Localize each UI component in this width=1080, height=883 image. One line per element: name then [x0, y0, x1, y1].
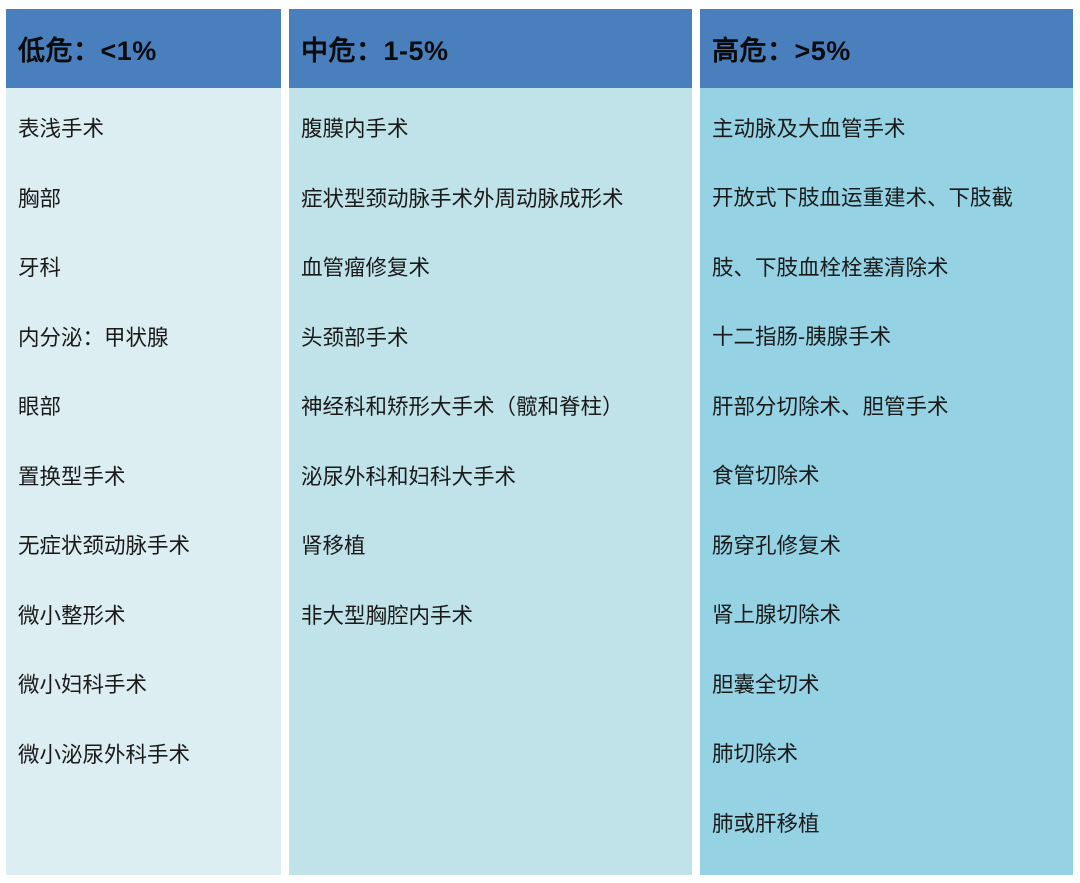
list-item: 胆囊全切术	[712, 670, 1067, 740]
surgical-risk-table: 低危：<1% 表浅手术 胸部 牙科 内分泌：甲状腺 眼部 置换型手术 无症状颈动…	[6, 9, 1073, 877]
list-item: 肠穿孔修复术	[712, 531, 1067, 601]
column-body-low: 表浅手术 胸部 牙科 内分泌：甲状腺 眼部 置换型手术 无症状颈动脉手术 微小整…	[6, 88, 281, 875]
column-header-medium: 中危：1-5%	[289, 9, 692, 88]
list-item: 肝部分切除术、胆管手术	[712, 392, 1067, 462]
list-item: 肺切除术	[712, 739, 1067, 809]
list-item: 症状型颈动脉手术外周动脉成形术	[301, 184, 686, 254]
list-item: 微小整形术	[18, 601, 275, 671]
list-item: 非大型胸腔内手术	[301, 601, 686, 671]
list-item: 泌尿外科和妇科大手术	[301, 462, 686, 532]
list-item: 肺或肝移植	[712, 809, 1067, 875]
column-body-medium: 腹膜内手术 症状型颈动脉手术外周动脉成形术 血管瘤修复术 头颈部手术 神经科和矫…	[289, 88, 692, 875]
list-item: 肢、下肢血栓栓塞清除术	[712, 253, 1067, 323]
list-item: 内分泌：甲状腺	[18, 323, 275, 393]
list-item: 头颈部手术	[301, 323, 686, 393]
list-item: 十二指肠-胰腺手术	[712, 322, 1067, 392]
item-list-medium: 腹膜内手术 症状型颈动脉手术外周动脉成形术 血管瘤修复术 头颈部手术 神经科和矫…	[301, 114, 686, 670]
list-item: 血管瘤修复术	[301, 253, 686, 323]
list-item: 食管切除术	[712, 461, 1067, 531]
list-item: 表浅手术	[18, 114, 275, 184]
list-item: 肾移植	[301, 531, 686, 601]
column-body-high: 主动脉及大血管手术 开放式下肢血运重建术、下肢截 肢、下肢血栓栓塞清除术 十二指…	[700, 88, 1073, 875]
list-item: 胸部	[18, 184, 275, 254]
list-item: 肾上腺切除术	[712, 600, 1067, 670]
list-item: 神经科和矫形大手术（髋和脊柱）	[301, 392, 686, 462]
list-item: 眼部	[18, 392, 275, 462]
list-item: 微小泌尿外科手术	[18, 740, 275, 810]
risk-column-high: 高危：>5% 主动脉及大血管手术 开放式下肢血运重建术、下肢截 肢、下肢血栓栓塞…	[700, 9, 1073, 875]
list-item: 主动脉及大血管手术	[712, 114, 1067, 184]
list-item: 开放式下肢血运重建术、下肢截	[712, 183, 1067, 253]
list-item: 置换型手术	[18, 462, 275, 532]
column-header-low: 低危：<1%	[6, 9, 281, 88]
risk-column-low: 低危：<1% 表浅手术 胸部 牙科 内分泌：甲状腺 眼部 置换型手术 无症状颈动…	[6, 9, 281, 875]
item-list-low: 表浅手术 胸部 牙科 内分泌：甲状腺 眼部 置换型手术 无症状颈动脉手术 微小整…	[18, 114, 275, 809]
risk-column-medium: 中危：1-5% 腹膜内手术 症状型颈动脉手术外周动脉成形术 血管瘤修复术 头颈部…	[289, 9, 692, 875]
item-list-high: 主动脉及大血管手术 开放式下肢血运重建术、下肢截 肢、下肢血栓栓塞清除术 十二指…	[712, 114, 1067, 875]
column-header-high: 高危：>5%	[700, 9, 1073, 88]
list-item: 牙科	[18, 253, 275, 323]
list-item: 无症状颈动脉手术	[18, 531, 275, 601]
list-item: 微小妇科手术	[18, 670, 275, 740]
list-item: 腹膜内手术	[301, 114, 686, 184]
